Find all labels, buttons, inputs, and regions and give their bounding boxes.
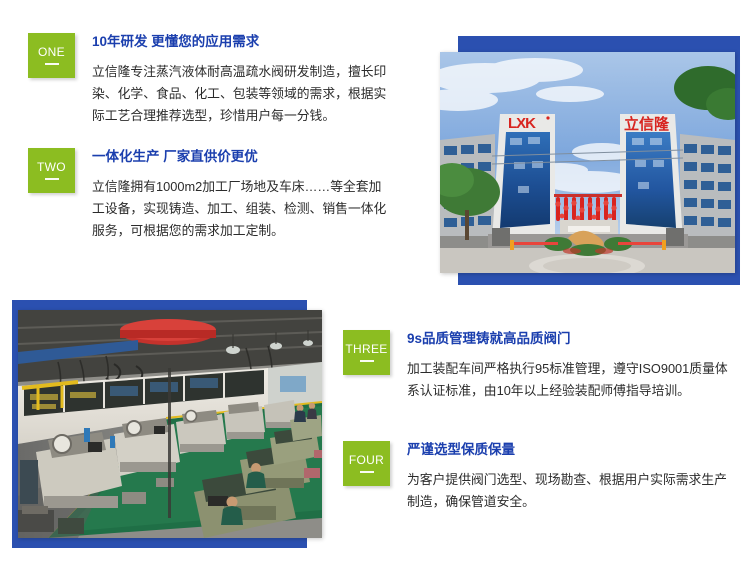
badge-four-label: FOUR	[349, 454, 384, 466]
svg-text:LXK: LXK	[508, 115, 536, 132]
feature-three-text: 9s品质管理铸就高品质阀门 加工装配车间严格执行95标准管理，遵守ISO9001…	[407, 330, 733, 402]
building-illustration: LXK 立信隆	[440, 52, 735, 273]
workshop-illustration	[18, 310, 322, 538]
feature-three-body-text: 加工装配车间严格执行95标准管理，遵守ISO9001质量体系认证标准，由10年以…	[407, 358, 733, 402]
feature-block-four: FOUR 严谨选型保质保量 为客户提供阀门选型、现场勘查、根据用户实际需求生产制…	[343, 441, 733, 513]
badge-three-label: THREE	[345, 343, 387, 355]
company-building-photo-frame: LXK 立信隆	[440, 33, 740, 285]
company-building-photo: LXK 立信隆	[440, 52, 735, 273]
svg-text:立信隆: 立信隆	[624, 115, 670, 133]
feature-block-two: TWO 一体化生产 厂家直供价更优 立信隆拥有1000m2加工厂场地及车床……等…	[28, 148, 388, 242]
feature-two-text: 一体化生产 厂家直供价更优 立信隆拥有1000m2加工厂场地及车床……等全套加工…	[92, 148, 388, 242]
badge-four: FOUR	[343, 441, 390, 486]
feature-one-body-text: 立信隆专注蒸汽液体耐高温疏水阀研发制造，擅长印染、化学、食品、化工、包装等领域的…	[92, 61, 388, 127]
feature-two-body: 立信隆拥有1000m2加工厂场地及车床……等全套加工设备，实现铸造、加工、组装、…	[92, 176, 388, 242]
badge-underline-icon	[360, 471, 374, 473]
cnc-machine	[224, 402, 265, 440]
advantages-section: ONE 10年研发 更懂您的应用需求 立信隆专注蒸汽液体耐高温疏水阀研发制造，擅…	[0, 0, 750, 573]
cnc-machine	[176, 410, 226, 454]
feature-two-body-text: 立信隆拥有1000m2加工厂场地及车床……等全套加工设备，实现铸造、加工、组装、…	[92, 176, 388, 242]
badge-one: ONE	[28, 33, 75, 78]
badge-three: THREE	[343, 330, 390, 375]
feature-block-one: ONE 10年研发 更懂您的应用需求 立信隆专注蒸汽液体耐高温疏水阀研发制造，擅…	[28, 33, 388, 127]
feature-one-title: 10年研发 更懂您的应用需求	[92, 34, 388, 50]
badge-one-label: ONE	[38, 46, 65, 58]
feature-one-text: 10年研发 更懂您的应用需求 立信隆专注蒸汽液体耐高温疏水阀研发制造，擅长印染、…	[92, 33, 388, 127]
badge-underline-icon	[360, 360, 374, 362]
feature-block-three: THREE 9s品质管理铸就高品质阀门 加工装配车间严格执行95标准管理，遵守I…	[343, 330, 733, 402]
factory-workshop-photo	[18, 310, 322, 538]
feature-four-body-text: 为客户提供阀门选型、现场勘查、根据用户实际需求生产制造，确保管道安全。	[407, 469, 733, 513]
badge-two: TWO	[28, 148, 75, 193]
feature-four-text: 严谨选型保质保量 为客户提供阀门选型、现场勘查、根据用户实际需求生产制造，确保管…	[407, 441, 733, 513]
feature-four-title: 严谨选型保质保量	[407, 442, 733, 458]
building-name-sign: 立信隆	[624, 115, 670, 133]
badge-underline-icon	[45, 178, 59, 180]
feature-four-body: 为客户提供阀门选型、现场勘查、根据用户实际需求生产制造，确保管道安全。	[407, 469, 733, 513]
factory-workshop-photo-frame	[8, 300, 316, 548]
feature-three-body: 加工装配车间严格执行95标准管理，遵守ISO9001质量体系认证标准，由10年以…	[407, 358, 733, 402]
feature-three-title: 9s品质管理铸就高品质阀门	[407, 331, 733, 347]
badge-underline-icon	[45, 63, 59, 65]
badge-two-label: TWO	[37, 161, 66, 173]
feature-two-title: 一体化生产 厂家直供价更优	[92, 149, 388, 165]
feature-one-body: 立信隆专注蒸汽液体耐高温疏水阀研发制造，擅长印染、化学、食品、化工、包装等领域的…	[92, 61, 388, 127]
